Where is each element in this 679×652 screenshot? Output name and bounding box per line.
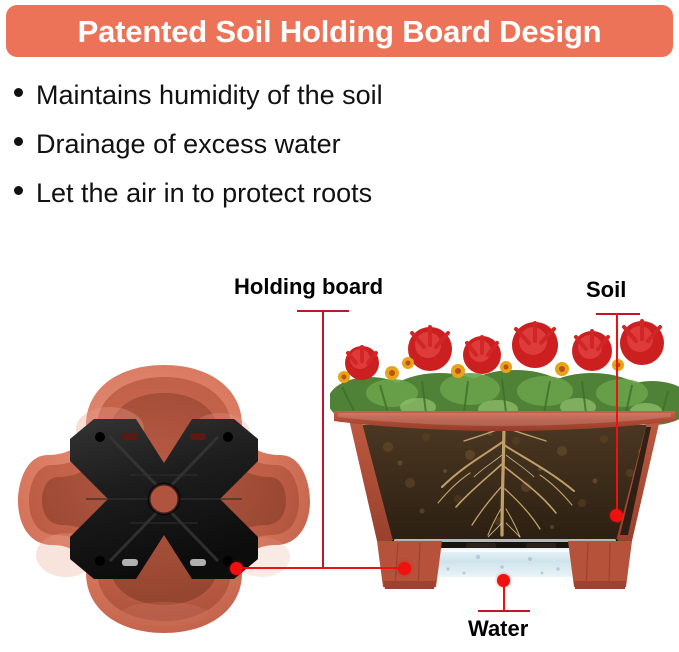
soil-leader-tbar xyxy=(596,313,640,315)
product-diagram: Holding board Soil Water xyxy=(0,255,679,652)
label-water: Water xyxy=(468,618,528,640)
label-soil: Soil xyxy=(586,279,626,301)
header-banner: Patented Soil Holding Board Design xyxy=(6,5,673,57)
bullet-dot-icon xyxy=(14,88,23,97)
clover-pot-top-view-image xyxy=(14,359,314,639)
holding-board-connector-line xyxy=(236,567,408,569)
list-item: Drainage of excess water xyxy=(14,120,534,169)
callout-dot-planter-board xyxy=(398,562,411,575)
product-infographic: Patented Soil Holding Board Design Maint… xyxy=(0,0,679,652)
holding-board-graphic xyxy=(70,413,258,585)
callout-dot-water xyxy=(497,574,510,587)
feature-text: Maintains humidity of the soil xyxy=(36,71,383,120)
feature-text: Let the air in to protect roots xyxy=(36,169,372,218)
water-leader-tbar xyxy=(478,610,530,612)
holding-board-leader-line xyxy=(322,310,324,569)
callout-dot-soil xyxy=(610,509,623,522)
callout-dot-pot-board xyxy=(230,562,243,575)
list-item: Let the air in to protect roots xyxy=(14,169,534,218)
feature-text: Drainage of excess water xyxy=(36,120,341,169)
bullet-dot-icon xyxy=(14,186,23,195)
bullet-dot-icon xyxy=(14,137,23,146)
list-item: Maintains humidity of the soil xyxy=(14,71,534,120)
pot-section-graphic xyxy=(330,411,679,601)
feature-list: Maintains humidity of the soil Drainage … xyxy=(14,71,534,218)
soil-leader-line xyxy=(616,313,618,515)
page-title: Patented Soil Holding Board Design xyxy=(78,16,602,47)
label-holding-board: Holding board xyxy=(234,276,383,298)
